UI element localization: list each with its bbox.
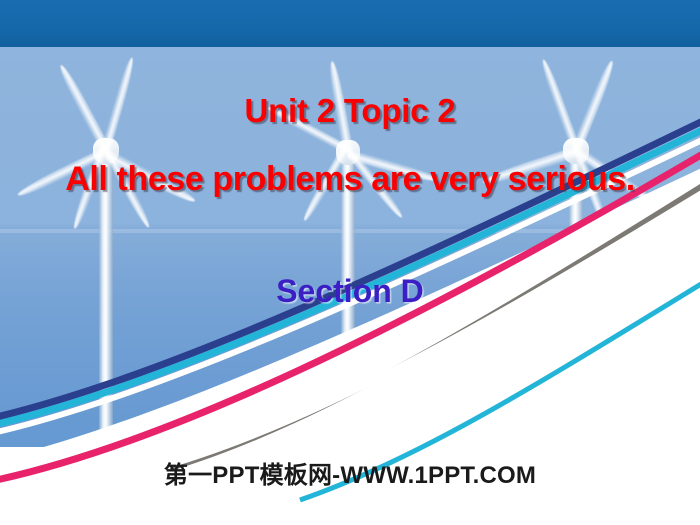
watermark-text: 第一PPT模板网-WWW.1PPT.COM	[0, 455, 700, 490]
slide-canvas: Unit 2 Topic 2 All these problems are ve…	[0, 0, 700, 525]
top-color-band	[0, 0, 700, 47]
section-label: Section D	[0, 273, 700, 310]
title-line-1: Unit 2 Topic 2	[0, 92, 700, 130]
title-line-2: All these problems are very serious.	[0, 160, 700, 199]
